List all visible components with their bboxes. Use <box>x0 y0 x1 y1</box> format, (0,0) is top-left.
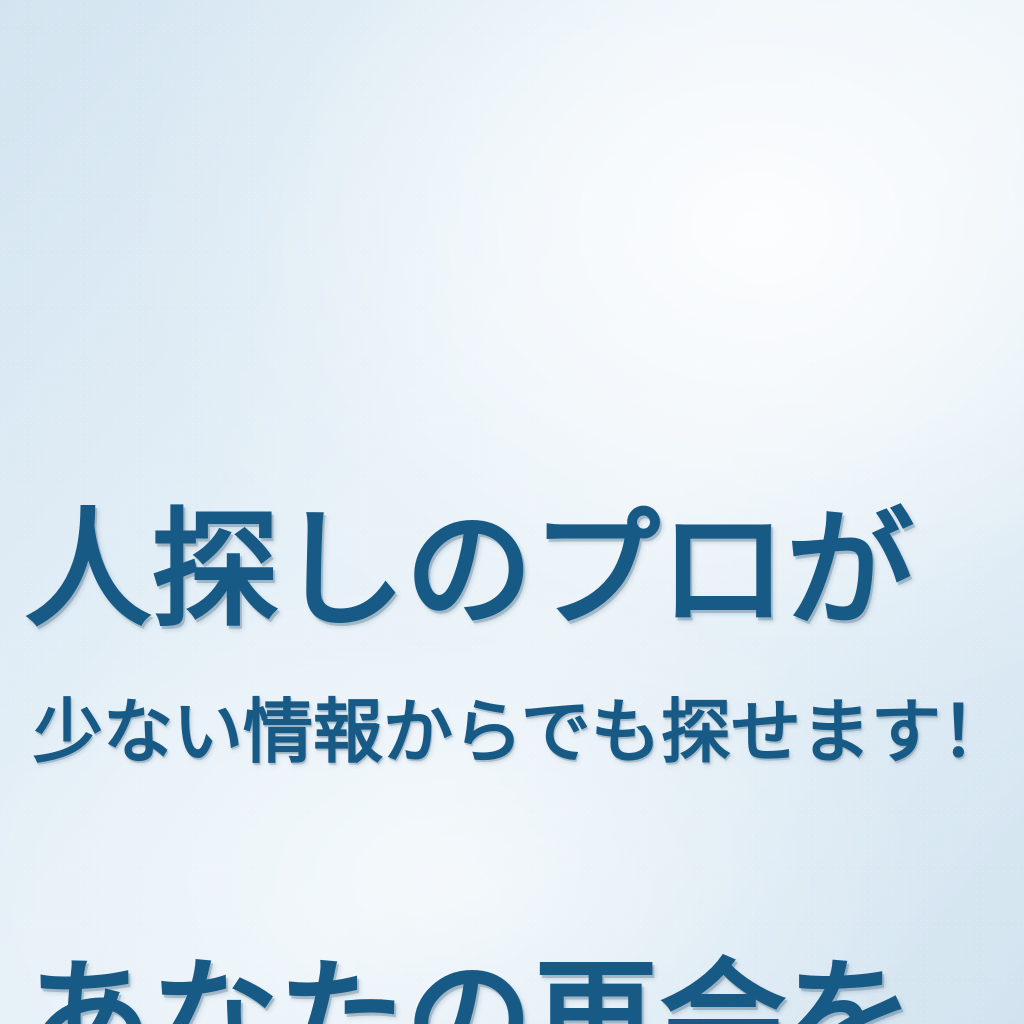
headline-line-2: あなたの再会を <box>24 946 1014 1024</box>
subheadline: 少ない情報からでも探せます！ <box>33 688 1023 776</box>
headline: 人探しのプロが あなたの再会を サポート！ <box>24 196 1014 1024</box>
poster-canvas: 人探しのプロが あなたの再会を サポート！ 少ない情報からでも探せます！ <box>0 0 1024 1024</box>
headline-line-1: 人探しのプロが <box>24 496 1014 646</box>
